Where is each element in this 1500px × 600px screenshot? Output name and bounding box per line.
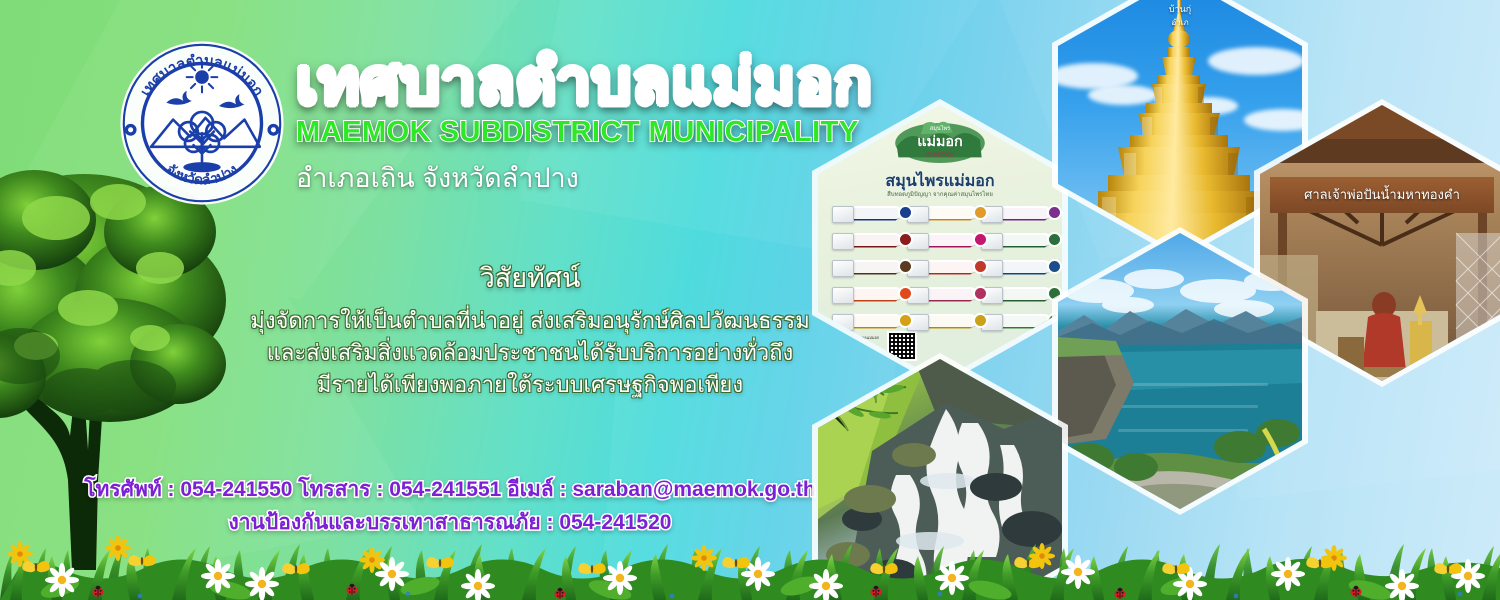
- municipality-seal-logo: เทศบาลตำบลแม่มอก จังหวัดลำปาง: [117, 38, 287, 208]
- poster-product-item: [981, 230, 1052, 252]
- poster-product-item: [981, 257, 1052, 279]
- svg-text:สมุนไพร: สมุนไพร: [930, 125, 950, 132]
- herb-brand-logo: สมุนไพร แม่มอก maemok: [892, 119, 988, 164]
- poster-product-item: [907, 230, 978, 252]
- poster-product-item: [832, 230, 903, 252]
- poster-social-line: สมุนไพรแม่มอก: [834, 351, 879, 358]
- poster-product-item: [907, 203, 978, 225]
- municipality-banner: เทศบาลตำบลแม่มอก จังหวัดลำปาง เทศบาลตำบล…: [0, 0, 1500, 600]
- vision-line-1: มุ่งจัดการให้เป็นตำบลที่น่าอยู่ ส่งเสริม…: [230, 305, 830, 337]
- poster-product-grid: [832, 203, 1052, 333]
- grass-decoration-strip: [0, 514, 1500, 600]
- poster-subtitle: สืบทอดภูมิปัญญา จากคุณค่าสมุนไพรไทย: [818, 189, 1062, 199]
- poster-product-item: [907, 284, 978, 306]
- poster-product-item: [981, 203, 1052, 225]
- vision-line-3: มีรายได้เพียงพอภายใต้ระบบเศรษฐกิจพอเพียง: [230, 369, 830, 401]
- poster-product-item: [832, 257, 903, 279]
- poster-product-item: [907, 311, 978, 333]
- pagoda-caption-line2: บ้านกุ่: [1058, 2, 1302, 16]
- svg-text:maemok: maemok: [926, 150, 954, 159]
- poster-product-item: [832, 284, 903, 306]
- poster-product-item: [832, 203, 903, 225]
- vision-heading: วิสัยทัศน์: [230, 256, 830, 299]
- vision-block: วิสัยทัศน์ มุ่งจัดการให้เป็นตำบลที่น่าอย…: [230, 256, 830, 401]
- poster-product-item: [981, 284, 1052, 306]
- poster-product-item: [907, 257, 978, 279]
- shrine-signboard: ศาลเจ้าพ่อปันน้ำมหาทองคำ: [1270, 177, 1495, 213]
- hexagon-photo-cluster: สมุนไพร แม่มอก maemok สมุนไพรแม่มอก สืบท…: [800, 0, 1500, 575]
- svg-text:แม่มอก: แม่มอก: [917, 134, 963, 150]
- shrine-caption: ศาลเจ้าพ่อปันน้ำมหาทองคำ: [1304, 184, 1460, 205]
- hex-herb-poster[interactable]: สมุนไพร แม่มอก maemok สมุนไพรแม่มอก สืบท…: [818, 105, 1062, 381]
- vision-line-2: และส่งเสริมสิ่งแวดล้อมประชาชนได้รับบริกา…: [230, 337, 830, 369]
- contact-phone-fax-email[interactable]: โทรศัพท์ : 054-241550 โทรสาร : 054-24155…: [60, 474, 840, 507]
